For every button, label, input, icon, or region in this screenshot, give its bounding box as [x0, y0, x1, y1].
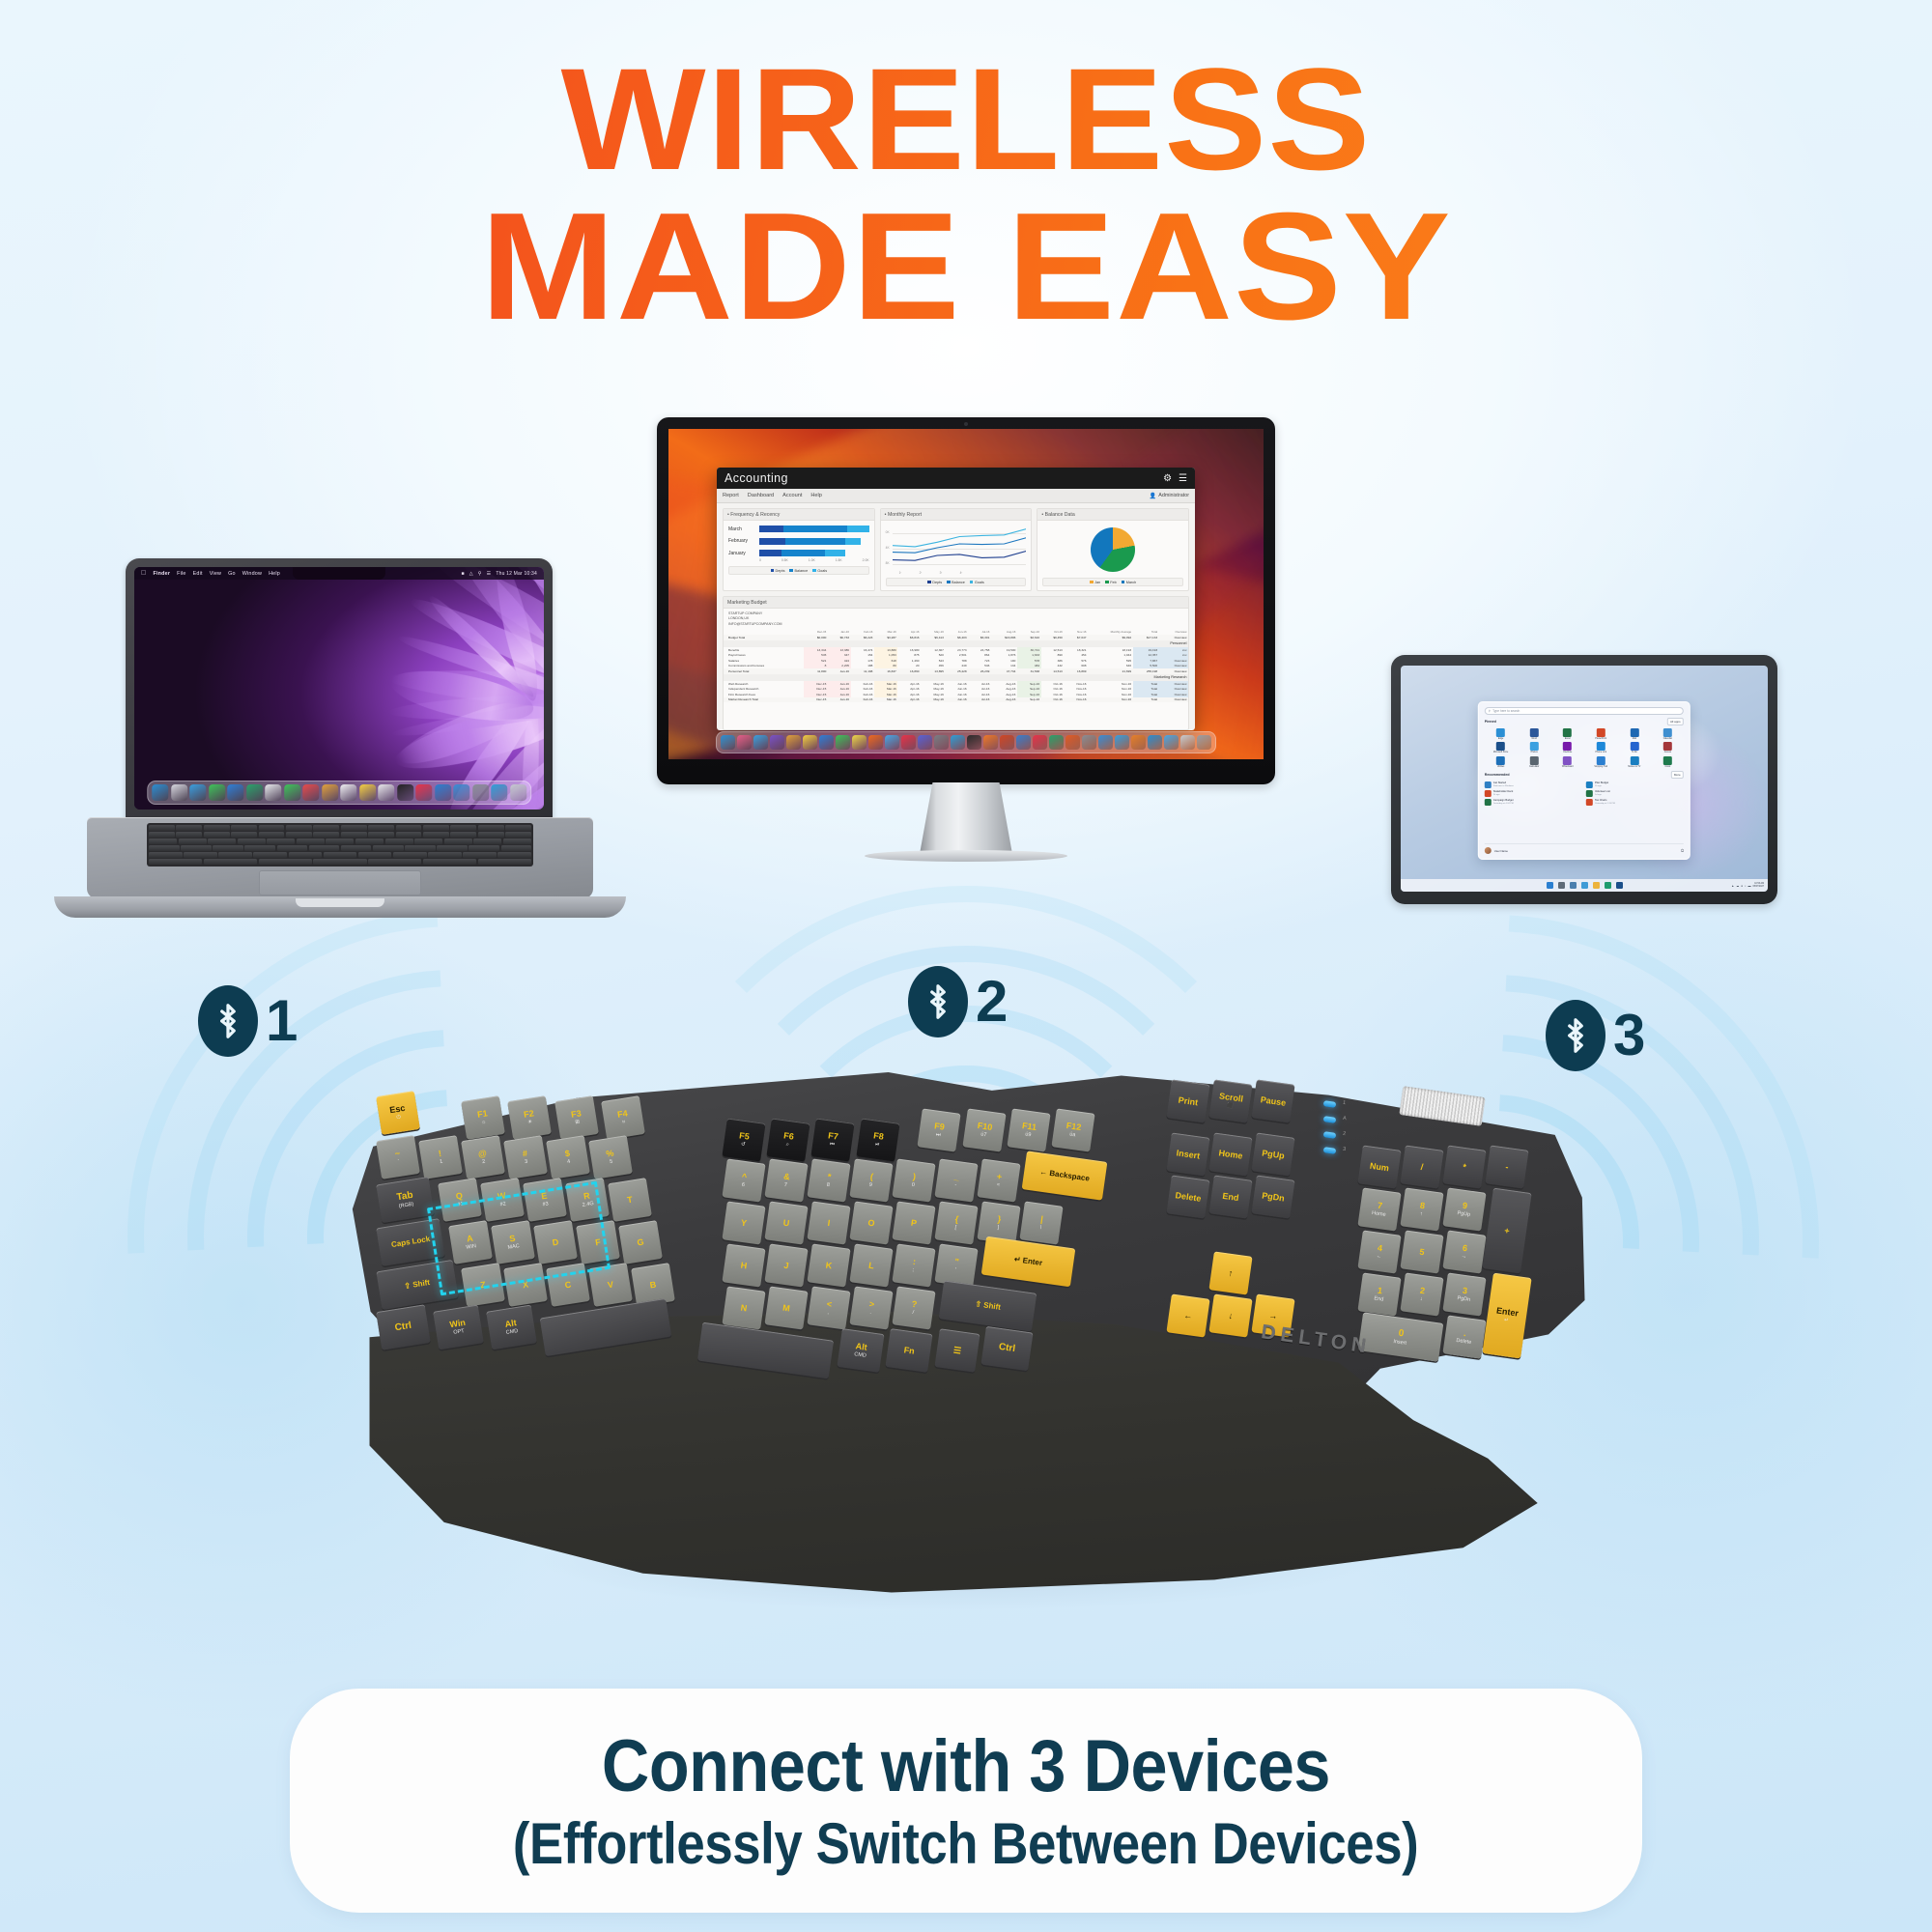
key-legend: Scroll: [1218, 1092, 1243, 1103]
key-2[interactable]: @2: [461, 1135, 505, 1179]
laptop-key[interactable]: [497, 852, 531, 858]
laptop-key[interactable]: [414, 838, 442, 844]
calculator-icon[interactable]: [1098, 735, 1113, 750]
pinned-app[interactable]: Photos: [1518, 742, 1550, 753]
finder-icon[interactable]: [721, 735, 735, 750]
key-np-1[interactable]: 1End: [1357, 1272, 1401, 1316]
macos-dock[interactable]: [147, 781, 531, 805]
laptop-key[interactable]: [428, 852, 462, 858]
mail-icon[interactable]: [227, 784, 243, 801]
key-legend: ~: [394, 1150, 401, 1159]
key-k[interactable]: K: [807, 1243, 850, 1287]
laptop-key[interactable]: [231, 832, 257, 838]
calendar-icon[interactable]: [302, 784, 319, 801]
laptop-key[interactable]: [289, 852, 323, 858]
laptop-key[interactable]: [286, 825, 312, 831]
laptop-key[interactable]: [149, 845, 180, 851]
key-f10[interactable]: F10ὐ7: [962, 1108, 1006, 1151]
laptop-key[interactable]: [218, 852, 252, 858]
avatar[interactable]: [1485, 847, 1492, 854]
laptop-key[interactable]: [358, 852, 392, 858]
hamburger-menu-icon[interactable]: ☰: [1179, 473, 1187, 484]
laptop-key[interactable]: [355, 838, 384, 844]
user-menu[interactable]: 👤 Administrator: [1150, 493, 1189, 499]
menu-go[interactable]: Go: [228, 571, 236, 577]
search-icon[interactable]: [1558, 882, 1565, 889]
launchpad-icon[interactable]: [737, 735, 752, 750]
contacts-icon[interactable]: [322, 784, 338, 801]
mail-icon[interactable]: [819, 735, 834, 750]
laptop-key[interactable]: [324, 852, 357, 858]
writer-icon[interactable]: [1016, 735, 1031, 750]
key-sublegend: →: [1461, 1254, 1466, 1261]
keynote-icon[interactable]: [435, 784, 451, 801]
start-icon[interactable]: [1547, 882, 1553, 889]
launchpad-icon[interactable]: [171, 784, 187, 801]
system-tray[interactable]: ▲ ☁ ● ♪ ▬ 10:53 AM 05/07/2027: [1731, 883, 1764, 889]
nav-help[interactable]: Help: [810, 493, 822, 498]
recommended-item[interactable]: Stakeholder Deck2h ago: [1485, 790, 1582, 797]
laptop-key[interactable]: [259, 832, 285, 838]
laptop-key[interactable]: [204, 825, 230, 831]
pinned-app[interactable]: Word: [1518, 728, 1550, 740]
photos-icon[interactable]: [770, 735, 784, 750]
monitor-macos-dock[interactable]: [716, 731, 1216, 753]
key-f3[interactable]: F3⊞: [554, 1095, 599, 1140]
blender-icon[interactable]: [983, 735, 998, 750]
laptop-key[interactable]: [423, 825, 449, 831]
safari-icon[interactable]: [189, 784, 206, 801]
start-search-input[interactable]: ⚲ Type here to search: [1485, 707, 1684, 715]
key-3[interactable]: #3: [503, 1135, 548, 1179]
key-f6[interactable]: F6⌕: [767, 1119, 810, 1162]
key-pgdn[interactable]: PgDn: [1251, 1175, 1294, 1218]
laptop-key[interactable]: [503, 838, 531, 844]
key-lalt[interactable]: AltCMD: [487, 1305, 537, 1350]
recommended-list[interactable]: Get StartedWelcome to WindowsPlan Budget…: [1485, 781, 1684, 806]
wifi-icon[interactable]: ●: [1741, 884, 1743, 888]
start-menu[interactable]: ⚲ Type here to search Pinned All apps Ed…: [1478, 701, 1690, 860]
onedrive-icon[interactable]: ☁: [1736, 884, 1739, 888]
key-f1[interactable]: F1☼: [461, 1095, 505, 1140]
facetime-icon[interactable]: [284, 784, 300, 801]
recommended-item[interactable]: Volunteer List1d ago: [1586, 790, 1684, 797]
laptop-key[interactable]: [341, 825, 367, 831]
key-0[interactable]: )0: [892, 1158, 935, 1202]
task-view-icon[interactable]: [1570, 882, 1577, 889]
laptop-key[interactable]: [179, 838, 207, 844]
gear-icon[interactable]: ⚙: [1163, 473, 1172, 484]
nav-account[interactable]: Account: [782, 493, 802, 498]
laptop-key[interactable]: [184, 852, 217, 858]
key-8[interactable]: *8: [807, 1158, 850, 1202]
pinned-app[interactable]: Edge: [1485, 728, 1518, 740]
key-comma[interactable]: <,: [807, 1286, 850, 1329]
pinned-app[interactable]: Phone Link: [1584, 742, 1617, 753]
laptop-key[interactable]: [286, 832, 312, 838]
pinned-app[interactable]: Whiteboard: [1551, 756, 1584, 768]
key-np-div[interactable]: /: [1400, 1145, 1443, 1188]
laptop-key[interactable]: [244, 845, 275, 851]
key-p[interactable]: P: [892, 1201, 935, 1244]
krita-icon[interactable]: [967, 735, 981, 750]
cell: Oct-16: [1041, 697, 1065, 703]
pinned-apps-grid[interactable]: EdgeWordExcelPowerPointMailCalendarMicro…: [1485, 728, 1684, 768]
key-6[interactable]: ^6: [722, 1158, 765, 1202]
key-ralt[interactable]: AltCMD: [837, 1328, 885, 1373]
firefox-icon[interactable]: [868, 735, 883, 750]
key-f2[interactable]: F2☀: [508, 1095, 553, 1140]
safari-icon[interactable]: [753, 735, 768, 750]
laptop-key[interactable]: [176, 832, 202, 838]
preview-icon[interactable]: [491, 784, 507, 801]
laptop-key[interactable]: [149, 852, 183, 858]
menu-file[interactable]: File: [177, 571, 186, 577]
key-sublegend: ⏻: [396, 1114, 401, 1122]
key-y[interactable]: Y: [722, 1201, 765, 1244]
menu-view[interactable]: View: [210, 571, 221, 577]
key-fn[interactable]: Fn: [886, 1328, 934, 1373]
excel-file-icon: [1586, 781, 1593, 788]
key-5[interactable]: %5: [588, 1135, 633, 1179]
opera-icon[interactable]: [1033, 735, 1047, 750]
laptop-key[interactable]: [463, 852, 497, 858]
app-titlebar: Accounting ⚙ ☰: [717, 468, 1195, 489]
recommended-item[interactable]: Campaign BudgetYesterday at 4:24 PM: [1485, 799, 1582, 806]
key-left[interactable]: ←: [1166, 1294, 1209, 1338]
notes-icon[interactable]: [359, 784, 376, 801]
edge-icon[interactable]: [1605, 882, 1611, 889]
key-f5[interactable]: F5↺: [722, 1119, 765, 1162]
key-sublegend: 1: [440, 1159, 443, 1165]
laptop-key[interactable]: [149, 838, 177, 844]
laptop-key[interactable]: [469, 845, 499, 851]
key-legend: Q: [455, 1192, 463, 1202]
key-equal[interactable]: +=: [977, 1158, 1020, 1202]
laptop-key[interactable]: [208, 838, 236, 844]
store-icon[interactable]: [1616, 882, 1623, 889]
powerpoint-icon[interactable]: [1000, 735, 1014, 750]
windows-taskbar[interactable]: ▲ ☁ ● ♪ ▬ 10:53 AM 05/07/2027: [1401, 879, 1768, 892]
pinned-app[interactable]: Clock: [1652, 756, 1685, 768]
key-sublegend: ⊞: [575, 1120, 580, 1126]
laptop-trackpad[interactable]: [259, 870, 421, 895]
laptop-keyboard[interactable]: [147, 823, 533, 867]
key-o[interactable]: O: [849, 1201, 893, 1244]
macos-wallpaper: [134, 567, 544, 810]
key-np-8[interactable]: 8↑: [1400, 1187, 1443, 1231]
laptop-key[interactable]: [478, 825, 504, 831]
laptop-key[interactable]: [238, 838, 266, 844]
key-sublegend: -: [954, 1182, 957, 1188]
key-np-dot[interactable]: .Delete: [1442, 1315, 1486, 1358]
key-slash[interactable]: ?/: [892, 1286, 935, 1329]
messages-icon[interactable]: [209, 784, 225, 801]
nav-dashboard[interactable]: Dashboard: [748, 493, 774, 498]
battery-icon[interactable]: ▬: [1748, 884, 1751, 888]
key-4[interactable]: $4: [546, 1135, 590, 1179]
key-period[interactable]: >.: [849, 1286, 893, 1329]
laptop-key[interactable]: [267, 838, 295, 844]
key-sublegend: 4: [567, 1159, 571, 1165]
cloud-icon[interactable]: [885, 735, 899, 750]
key-np-mul[interactable]: *: [1442, 1145, 1486, 1188]
nav-report[interactable]: Report: [723, 493, 739, 498]
laptop-key[interactable]: [478, 832, 504, 838]
laptop-key[interactable]: [313, 859, 366, 865]
whatsapp-icon[interactable]: [1049, 735, 1064, 750]
key-np-7[interactable]: 7Home: [1357, 1187, 1401, 1231]
pinned-app[interactable]: Mail: [1618, 728, 1651, 740]
laptop-key[interactable]: [313, 825, 339, 831]
key-legend: F7: [828, 1131, 839, 1141]
twitter-icon[interactable]: [1148, 735, 1162, 750]
laptop-key[interactable]: [505, 825, 531, 831]
pinned-app[interactable]: Calendar: [1652, 728, 1685, 740]
key-end[interactable]: End: [1208, 1175, 1252, 1218]
laptop-key[interactable]: [450, 832, 476, 838]
laptop-key[interactable]: [253, 852, 287, 858]
gimp-icon[interactable]: [934, 735, 949, 750]
key-scroll[interactable]: Scroll⬛: [1208, 1079, 1252, 1122]
laptop-key[interactable]: [259, 825, 285, 831]
key-down[interactable]: ↓: [1208, 1294, 1252, 1338]
battery-icon[interactable]: ■: [461, 571, 464, 577]
key-pgup[interactable]: PgUp: [1251, 1132, 1294, 1176]
recommended-header: Recommended More: [1485, 771, 1684, 779]
laptop-key[interactable]: [277, 845, 308, 851]
key-insert[interactable]: Insert: [1166, 1132, 1209, 1176]
key-minus[interactable]: _-: [934, 1158, 978, 1202]
reminders-icon[interactable]: [340, 784, 356, 801]
pinned-app[interactable]: Movies & TV: [1618, 756, 1651, 768]
key-i[interactable]: I: [807, 1201, 850, 1244]
key-home[interactable]: Home: [1208, 1132, 1252, 1176]
laptop-key[interactable]: [368, 825, 394, 831]
laptop-key[interactable]: [326, 838, 354, 844]
pinned-app[interactable]: Calculator: [1518, 756, 1550, 768]
laptop-key[interactable]: [473, 838, 501, 844]
laptop-key[interactable]: [204, 859, 257, 865]
recommended-item[interactable]: Get StartedWelcome to Windows: [1485, 781, 1582, 788]
laptop-key[interactable]: [341, 832, 367, 838]
key-legend: ": [954, 1258, 959, 1267]
discord-icon[interactable]: [918, 735, 932, 750]
freeform-icon[interactable]: [378, 784, 394, 801]
laptop-key[interactable]: [341, 845, 372, 851]
laptop-lid:  Finder File Edit View Go Window Help ■…: [126, 558, 553, 821]
laptop-key[interactable]: [149, 825, 175, 831]
laptop-key[interactable]: [373, 845, 404, 851]
key-quote[interactable]: "': [934, 1243, 978, 1287]
vlc-icon[interactable]: [1131, 735, 1146, 750]
key-g[interactable]: G: [618, 1220, 663, 1264]
notes-icon[interactable]: [852, 735, 867, 750]
key-num[interactable]: Num: [1357, 1145, 1401, 1188]
key-9[interactable]: (9: [849, 1158, 893, 1202]
laptop-key[interactable]: [213, 845, 243, 851]
laptop-key[interactable]: [259, 859, 312, 865]
more-button[interactable]: More: [1670, 771, 1684, 779]
screen-icon[interactable]: [951, 735, 965, 750]
files-icon[interactable]: [1180, 735, 1195, 750]
key-menu[interactable]: ☰: [934, 1328, 980, 1372]
file-explorer-icon[interactable]: [1593, 882, 1600, 889]
legend-label: Goals: [975, 581, 984, 584]
laptop-key[interactable]: [231, 825, 257, 831]
maps-icon[interactable]: [246, 784, 263, 801]
key-pause[interactable]: Pause: [1251, 1079, 1294, 1122]
key-legend: 0: [1398, 1328, 1405, 1339]
key-rctrl[interactable]: Ctrl: [981, 1326, 1034, 1371]
key-7[interactable]: &7: [764, 1158, 808, 1202]
key-legend: T: [626, 1195, 633, 1205]
slack-icon[interactable]: [901, 735, 916, 750]
laptop-key[interactable]: [450, 825, 476, 831]
menu-help[interactable]: Help: [269, 571, 280, 577]
key-f9[interactable]: F9⏭: [918, 1108, 961, 1151]
wifi-icon[interactable]: △: [469, 571, 473, 577]
key-h[interactable]: H: [722, 1243, 765, 1287]
key-np-3[interactable]: 3PgDn: [1442, 1272, 1486, 1316]
laptop-key[interactable]: [393, 852, 427, 858]
pinned-app[interactable]: PowerPoint: [1584, 728, 1617, 740]
mail-icon: [1630, 728, 1638, 737]
key-bslash[interactable]: |\: [1019, 1201, 1063, 1244]
all-apps-button[interactable]: All apps: [1667, 718, 1685, 725]
key-esc[interactable]: Esc⏻: [376, 1091, 420, 1135]
key-print[interactable]: Print: [1166, 1079, 1209, 1122]
menubar-clock[interactable]: Thu 12 Mar 10:34: [496, 571, 537, 577]
chevron-up-icon[interactable]: ▲: [1731, 884, 1734, 888]
pinned-app[interactable]: Snipping Tool: [1584, 756, 1617, 768]
laptop-key[interactable]: [385, 838, 413, 844]
key-up[interactable]: ↑: [1208, 1252, 1252, 1295]
pinned-app[interactable]: Utilities: [1485, 756, 1518, 768]
key-m[interactable]: M: [764, 1286, 808, 1329]
taskbar-clock[interactable]: 10:53 AM 05/07/2027: [1753, 883, 1765, 889]
camera-icon[interactable]: [1164, 735, 1179, 750]
laptop-key[interactable]: [444, 838, 472, 844]
laptop-key[interactable]: [423, 832, 449, 838]
search-icon[interactable]: ⚲: [478, 571, 482, 577]
pinned-app[interactable]: Excel: [1551, 728, 1584, 740]
key-f7[interactable]: F7⏮: [811, 1119, 855, 1162]
laptop-key[interactable]: [368, 859, 421, 865]
laptop-key[interactable]: [176, 825, 202, 831]
key-np-sub[interactable]: -: [1485, 1145, 1528, 1188]
pinned-app[interactable]: OneNote: [1551, 742, 1584, 753]
telegram-icon[interactable]: [1115, 735, 1129, 750]
key-lctrl[interactable]: Ctrl: [376, 1304, 431, 1350]
trash-icon[interactable]: [1197, 735, 1211, 750]
key-f11[interactable]: F11ὐ9: [1007, 1108, 1050, 1151]
pinned-app[interactable]: To Do: [1618, 742, 1651, 753]
pinned-app[interactable]: Microsoft Store: [1485, 742, 1518, 753]
menu-finder[interactable]: Finder: [153, 571, 170, 577]
laptop-key[interactable]: [478, 859, 531, 865]
laptop-key[interactable]: [423, 859, 476, 865]
menu-window[interactable]: Window: [242, 571, 262, 577]
key-n[interactable]: N: [722, 1286, 765, 1329]
music-icon[interactable]: [415, 784, 432, 801]
key-f12[interactable]: F12ὐa: [1051, 1108, 1094, 1151]
laptop-key[interactable]: [149, 832, 175, 838]
laptop-key[interactable]: [368, 832, 394, 838]
menu-edit[interactable]: Edit: [193, 571, 203, 577]
appstore-icon[interactable]: [453, 784, 469, 801]
power-icon[interactable]: ⏻: [1681, 848, 1684, 853]
key-np-9[interactable]: 9PgUp: [1442, 1187, 1486, 1231]
volume-icon[interactable]: ♪: [1745, 884, 1747, 888]
laptop-key[interactable]: [405, 845, 436, 851]
key-1[interactable]: !1: [418, 1135, 463, 1179]
key-delete[interactable]: Delete: [1166, 1175, 1209, 1218]
recommended-item[interactable]: Tax ChartsYesterday at 1:15 PM: [1586, 799, 1684, 806]
pinned-app[interactable]: Access: [1652, 742, 1685, 753]
key-np-4[interactable]: 4←: [1357, 1230, 1401, 1273]
laptop-key[interactable]: [204, 832, 230, 838]
settings-icon[interactable]: [1082, 735, 1096, 750]
control-center-icon[interactable]: ☰: [487, 571, 492, 577]
key-sublegend: 5: [610, 1159, 613, 1165]
laptop-key[interactable]: [181, 845, 212, 851]
laptop-key[interactable]: [505, 832, 531, 838]
messages-icon[interactable]: [836, 735, 850, 750]
key-semi[interactable]: :;: [892, 1243, 935, 1287]
photos-icon[interactable]: [265, 784, 281, 801]
key-tilde[interactable]: ~`: [376, 1135, 420, 1179]
key-t[interactable]: T: [608, 1178, 652, 1222]
widgets-icon[interactable]: [1581, 882, 1588, 889]
settings-icon[interactable]: [472, 784, 489, 801]
key-np-2[interactable]: 2↓: [1400, 1272, 1443, 1316]
laptop-key[interactable]: [313, 832, 339, 838]
key-f8[interactable]: F8⏯: [856, 1119, 899, 1162]
reminders-icon[interactable]: [803, 735, 817, 750]
table-row: Personnel: [724, 640, 1188, 647]
key-win[interactable]: WinOPT: [434, 1305, 484, 1350]
key-sublegend: ☀: [527, 1120, 533, 1126]
laptop-key[interactable]: [309, 845, 340, 851]
robot-icon[interactable]: [786, 735, 801, 750]
key-j[interactable]: J: [764, 1243, 808, 1287]
laptop-key[interactable]: [437, 845, 468, 851]
laptop-key[interactable]: [149, 859, 202, 865]
key-legend: Fn: [904, 1346, 916, 1355]
figma-icon[interactable]: [1065, 735, 1080, 750]
laptop-key[interactable]: [501, 845, 532, 851]
key-np-5[interactable]: 5: [1400, 1230, 1443, 1273]
laptop-key[interactable]: [297, 838, 325, 844]
laptop-key[interactable]: [396, 825, 422, 831]
key-l[interactable]: L: [849, 1243, 893, 1287]
app-navbar[interactable]: Report Dashboard Account Help 👤 Administ…: [717, 489, 1195, 503]
laptop-key[interactable]: [396, 832, 422, 838]
apple-logo-icon[interactable]: : [141, 570, 146, 577]
finder-icon[interactable]: [152, 784, 168, 801]
recommended-item[interactable]: Plan Budget1h ago: [1586, 781, 1684, 788]
key-legend: Print: [1178, 1095, 1199, 1107]
key-u[interactable]: U: [764, 1201, 808, 1244]
key-np-6[interactable]: 6→: [1442, 1230, 1486, 1273]
laptop-notch: [293, 567, 385, 580]
tv-icon[interactable]: [397, 784, 413, 801]
key-f4[interactable]: F4⌗: [601, 1095, 645, 1140]
key-lbrk[interactable]: {[: [934, 1201, 978, 1244]
accounting-app-window[interactable]: Accounting ⚙ ☰ Report Dashboard Account …: [717, 468, 1195, 730]
trash-icon[interactable]: [510, 784, 526, 801]
